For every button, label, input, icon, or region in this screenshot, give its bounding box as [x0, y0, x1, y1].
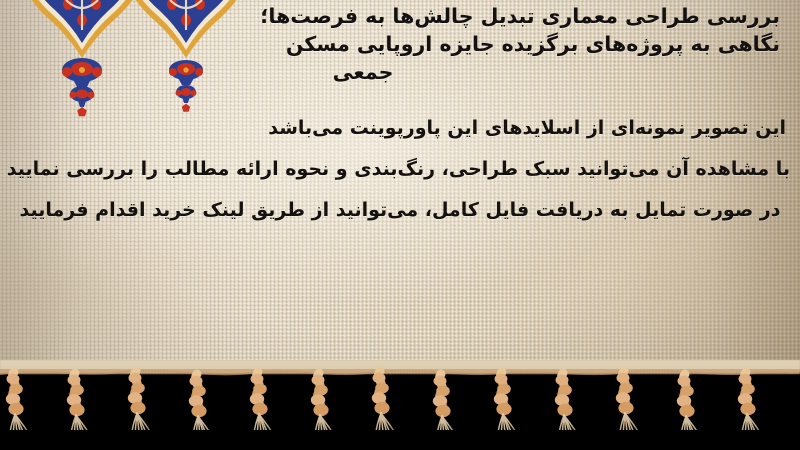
bottom-black-bar	[0, 430, 800, 450]
body-line-2: با مشاهده آن می‌توانید سبک طراحی، رنگ‌بن…	[10, 149, 790, 190]
slide-body-text: این تصویر نمونه‌ای از اسلایدهای این پاور…	[0, 108, 800, 231]
title-line-2: نگاهی به پروژه‌های برگزیده جایزه اروپایی…	[0, 30, 786, 58]
body-line-1: این تصویر نمونه‌ای از اسلایدهای این پاور…	[10, 108, 790, 149]
slide-canvas: بررسی طراحی معماری تبدیل چالش‌ها به فرصت…	[0, 0, 800, 450]
title-line-1: بررسی طراحی معماری تبدیل چالش‌ها به فرصت…	[0, 2, 786, 30]
slide-title: بررسی طراحی معماری تبدیل چالش‌ها به فرصت…	[0, 2, 800, 86]
body-line-3: در صورت تمایل به دریافت فایل کامل، می‌تو…	[10, 190, 790, 231]
title-line-3: جمعی	[0, 58, 786, 86]
